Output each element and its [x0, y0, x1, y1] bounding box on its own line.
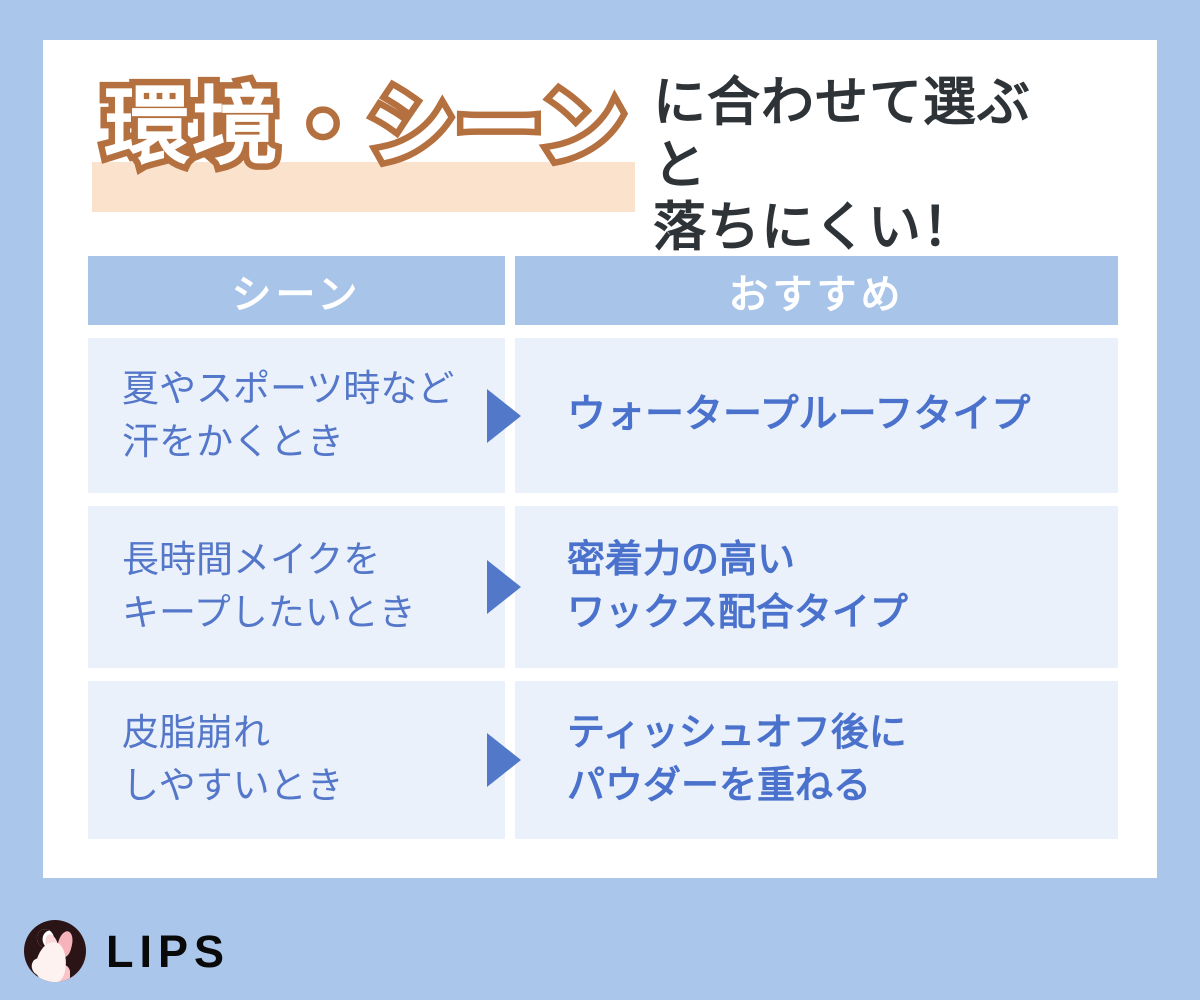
page-title: 環境・シーン	[104, 84, 628, 170]
recommendation-cell: ウォータープルーフタイプ	[515, 338, 1118, 493]
arrow-right-icon	[487, 389, 521, 443]
scene-line: 夏やスポーツ時など	[122, 363, 505, 416]
scene-line: しやすいとき	[122, 760, 505, 813]
table-row: 夏やスポーツ時など 汗をかくとき ウォータープルーフタイプ	[88, 338, 1118, 493]
recommendation-line: 密着力の高い	[567, 534, 1118, 587]
recommendation-line: ティッシュオフ後に	[567, 707, 1118, 760]
scene-cell: 夏やスポーツ時など 汗をかくとき	[88, 338, 505, 493]
arrow-right-icon	[487, 733, 521, 787]
column-header-recommendation-label: おすすめ	[729, 262, 905, 320]
subtitle-line-1: に合わせて選ぶと	[653, 72, 1073, 197]
column-header-scene-label: シーン	[232, 262, 362, 320]
brand-wordmark: LIPS	[106, 929, 230, 974]
column-header-recommendation: おすすめ	[515, 256, 1118, 325]
recommendation-line: パウダーを重ねる	[567, 760, 1118, 813]
scene-line: キープしたいとき	[122, 587, 505, 640]
footer-branding: LIPS	[24, 920, 230, 982]
recommendation-line: ワックス配合タイプ	[567, 587, 1118, 640]
deer-moon-icon	[24, 920, 86, 982]
recommendation-line: ウォータープルーフタイプ	[567, 388, 1118, 443]
arrow-right-icon	[487, 560, 521, 614]
table-row: 皮脂崩れ しやすいとき ティッシュオフ後に パウダーを重ねる	[88, 681, 1118, 839]
recommendation-cell: 密着力の高い ワックス配合タイプ	[515, 506, 1118, 668]
page-subtitle: に合わせて選ぶと 落ちにくい！	[653, 72, 1073, 260]
scene-cell: 皮脂崩れ しやすいとき	[88, 681, 505, 839]
table-header-row: シーン おすすめ	[88, 256, 1118, 325]
scene-cell: 長時間メイクを キープしたいとき	[88, 506, 505, 668]
scene-recommendation-table: シーン おすすめ 夏やスポーツ時など 汗をかくとき ウォータープルーフタイプ 長…	[88, 256, 1118, 839]
scene-line: 長時間メイクを	[122, 534, 505, 587]
scene-line: 皮脂崩れ	[122, 707, 505, 760]
recommendation-cell: ティッシュオフ後に パウダーを重ねる	[515, 681, 1118, 839]
title-block: 環境・シーン に合わせて選ぶと 落ちにくい！	[49, 42, 1069, 222]
column-header-scene: シーン	[88, 256, 505, 325]
table-row: 長時間メイクを キープしたいとき 密着力の高い ワックス配合タイプ	[88, 506, 1118, 668]
scene-line: 汗をかくとき	[122, 416, 505, 469]
subtitle-line-2: 落ちにくい！	[653, 197, 1073, 260]
